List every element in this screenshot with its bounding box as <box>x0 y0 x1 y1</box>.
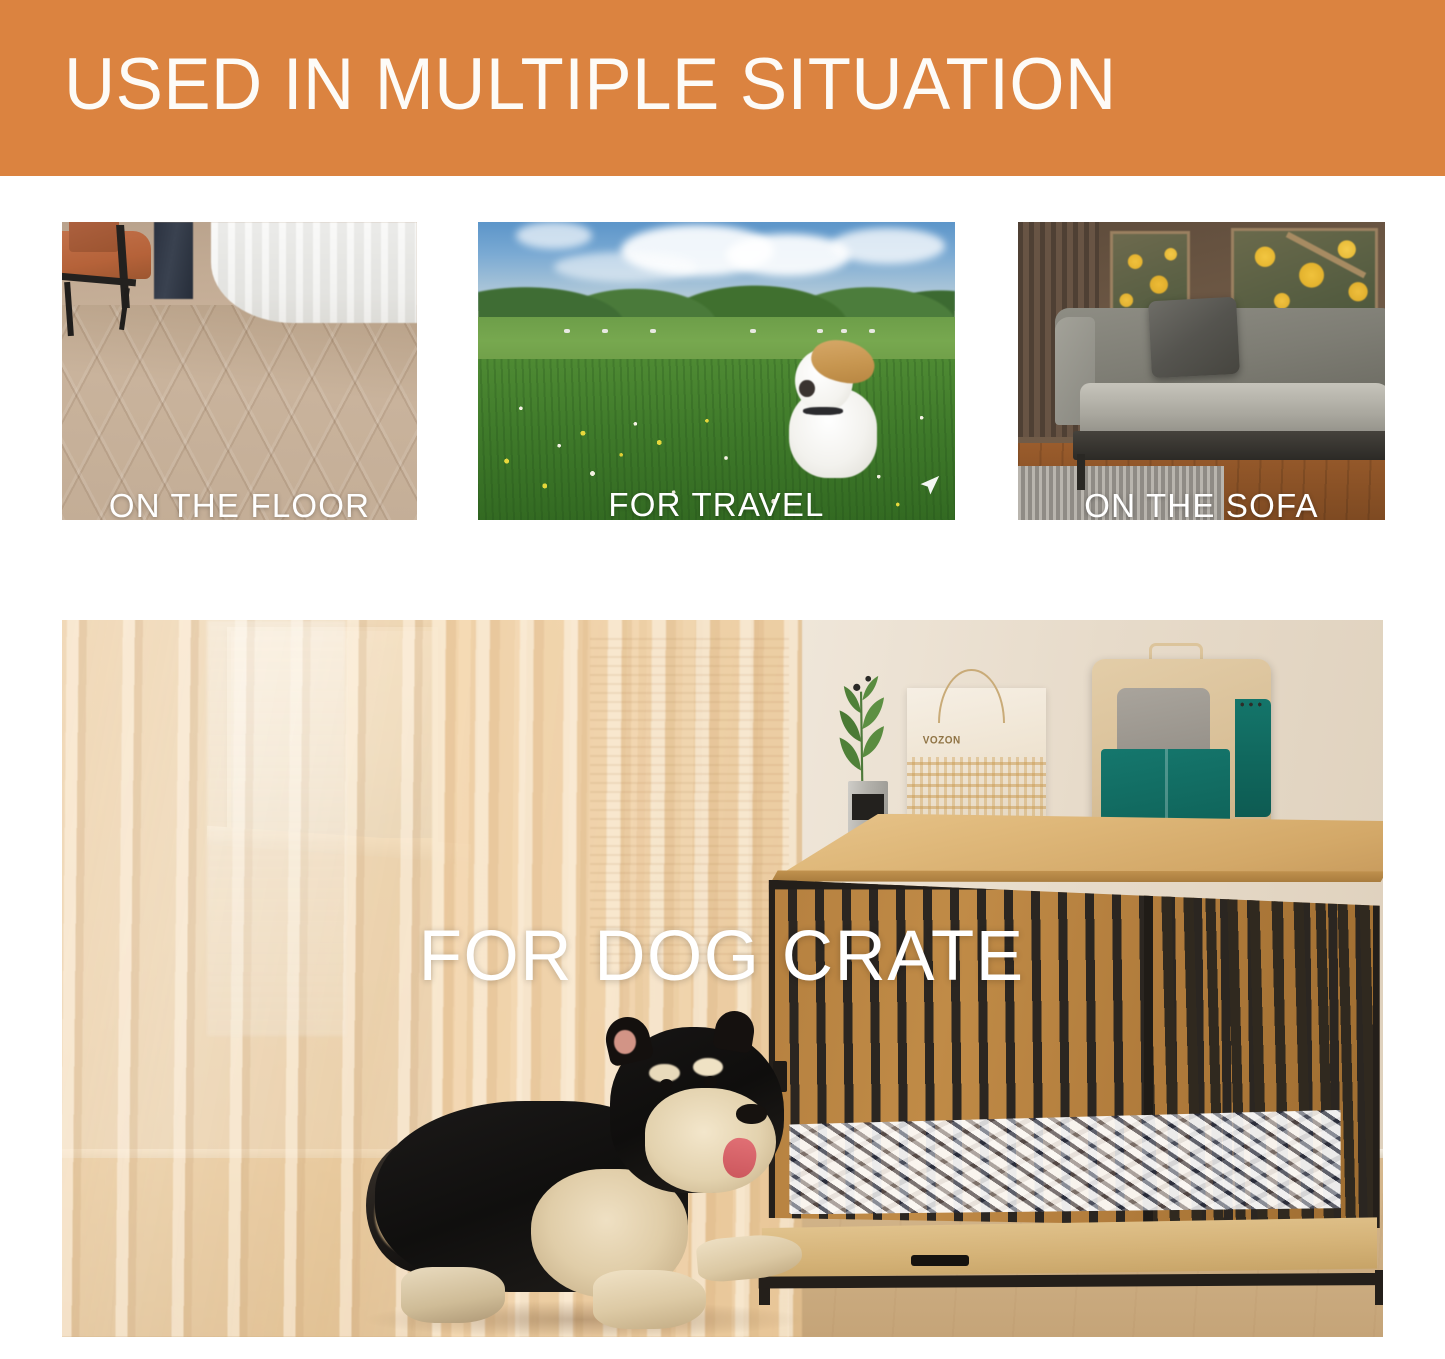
dog-brow-right <box>693 1058 724 1076</box>
dog-ear-right <box>712 1008 757 1054</box>
dog-nose <box>736 1104 767 1124</box>
sheep <box>750 329 756 333</box>
cloud <box>831 228 945 264</box>
dog-extended-paw <box>695 1232 803 1284</box>
thumbnail-on-the-sofa[interactable]: ON THE SOFA <box>1018 222 1385 520</box>
sheep <box>817 329 823 333</box>
cloud <box>516 222 592 249</box>
dog-crate-furniture <box>756 814 1383 1273</box>
curtain-gap <box>207 620 346 1036</box>
cloud <box>726 234 850 276</box>
crate-base-panel <box>759 1217 1380 1277</box>
sheer-curtain <box>211 222 417 323</box>
carrier-vent-holes <box>1235 685 1264 724</box>
crate-top-edge <box>765 870 1383 882</box>
hero-label: FOR DOG CRATE <box>419 921 1025 992</box>
armchair-back <box>69 222 119 252</box>
header-banner: USED IN MULTIPLE SITUATION <box>0 0 1445 176</box>
crate-frame-right <box>1373 880 1383 1229</box>
throw-pillow <box>1148 297 1240 379</box>
pet-carrier-backpack <box>1092 659 1270 838</box>
sheep <box>650 329 656 333</box>
dog-eye-right <box>704 1076 717 1086</box>
bag-logo: VOZON <box>923 734 961 746</box>
navy-curtain <box>154 222 193 299</box>
thumbnail-for-travel[interactable]: FOR TRAVEL <box>478 222 955 520</box>
thumbnail-label: FOR TRAVEL <box>478 488 955 520</box>
crate-bed-cushion <box>784 1110 1347 1215</box>
dog-front-paw <box>593 1270 706 1329</box>
thumbnail-on-the-floor[interactable]: ON THE FLOOR <box>62 222 417 520</box>
hero-image-for-dog-crate[interactable]: VOZON <box>62 620 1383 1337</box>
thumbnail-row: ON THE FLOOR FOR TRAVEL <box>0 222 1445 520</box>
sheep <box>564 329 570 333</box>
dog-back-leg <box>401 1267 506 1322</box>
crate-drawer-handle[interactable] <box>911 1255 969 1265</box>
dog-collar <box>803 407 843 415</box>
page-title: USED IN MULTIPLE SITUATION <box>64 48 1117 121</box>
dog-with-straw-hat <box>783 341 883 478</box>
thumbnail-label: ON THE SOFA <box>1018 489 1385 520</box>
dog-eye-left <box>660 1079 673 1089</box>
sheep <box>841 329 847 333</box>
crate-wood-top <box>756 814 1383 878</box>
thumbnail-label: ON THE FLOOR <box>62 489 417 520</box>
sofa-base <box>1073 431 1385 461</box>
malamute-dog <box>366 1014 802 1322</box>
sofa-leg <box>1077 454 1085 490</box>
